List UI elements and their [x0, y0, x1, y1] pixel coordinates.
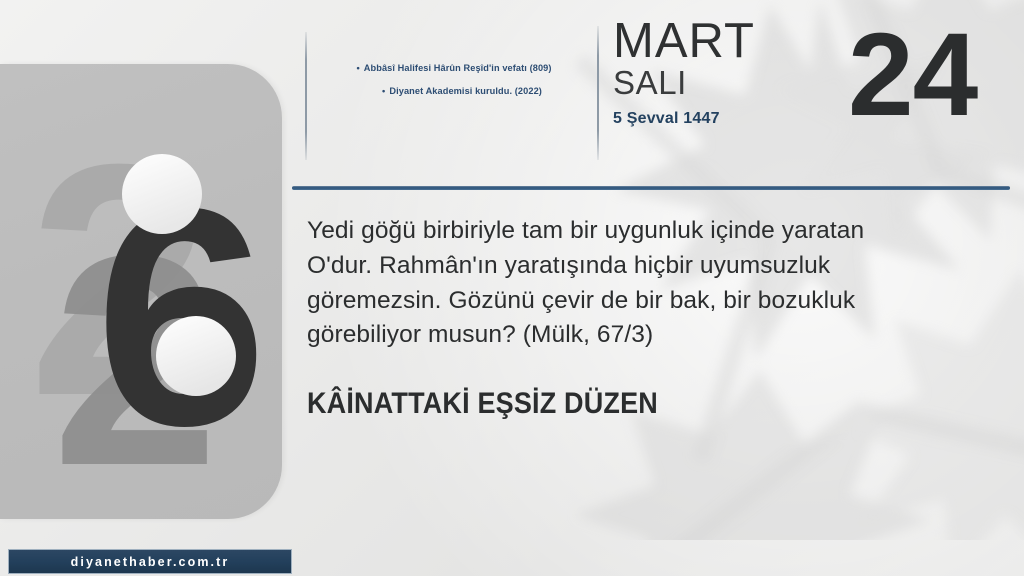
quote-line-4: görebiliyor musun? (Mülk, 67/3)	[307, 318, 927, 353]
day-number: 24	[848, 16, 1008, 134]
quote-text: Yedi göğü birbiriyle tam bir uygunluk iç…	[307, 214, 927, 353]
year-logo: 2 2 6	[0, 64, 290, 519]
vertical-divider-right	[597, 26, 599, 160]
quote-line-2: O'dur. Rahmân'ın yaratışında hiçbir uyum…	[307, 249, 927, 284]
event-item-2: •Diyanet Akademisi kuruldu. (2022)	[320, 85, 588, 97]
events-list: •Abbâsî Halifesi Hârûn Reşîd'in vefatı (…	[320, 62, 588, 109]
vertical-divider-left	[305, 32, 307, 160]
website-url: diyanethaber.com.tr	[71, 555, 230, 569]
horizontal-rule	[292, 186, 1010, 190]
quote-line-1: Yedi göğü birbiriyle tam bir uygunluk iç…	[307, 214, 927, 249]
logo-circle-bottom	[156, 316, 236, 396]
event-text-1: Abbâsî Halifesi Hârûn Reşîd'in vefatı (8…	[364, 63, 552, 73]
bullet-icon: •	[356, 62, 359, 74]
event-text-2: Diyanet Akademisi kuruldu. (2022)	[389, 86, 542, 96]
hijri-date-label: 5 Şevval 1447	[613, 110, 823, 128]
website-footer-bar[interactable]: diyanethaber.com.tr	[8, 549, 292, 574]
weekday-label: SALI	[613, 66, 823, 99]
headline: KÂİNATTAKİ EŞSİZ DÜZEN	[307, 387, 865, 421]
date-block: MART SALI 5 Şevval 1447	[613, 18, 823, 128]
calendar-page: 2 2 6 •Abbâsî Halifesi Hârûn Reşîd'i	[0, 0, 1024, 576]
logo-circle-top	[122, 154, 202, 234]
event-item-1: •Abbâsî Halifesi Hârûn Reşîd'in vefatı (…	[320, 62, 588, 74]
quote-line-3: göremezsin. Gözünü çevir de bir bak, bir…	[307, 284, 927, 319]
bullet-icon: •	[382, 85, 385, 97]
month-label: MART	[613, 18, 823, 64]
